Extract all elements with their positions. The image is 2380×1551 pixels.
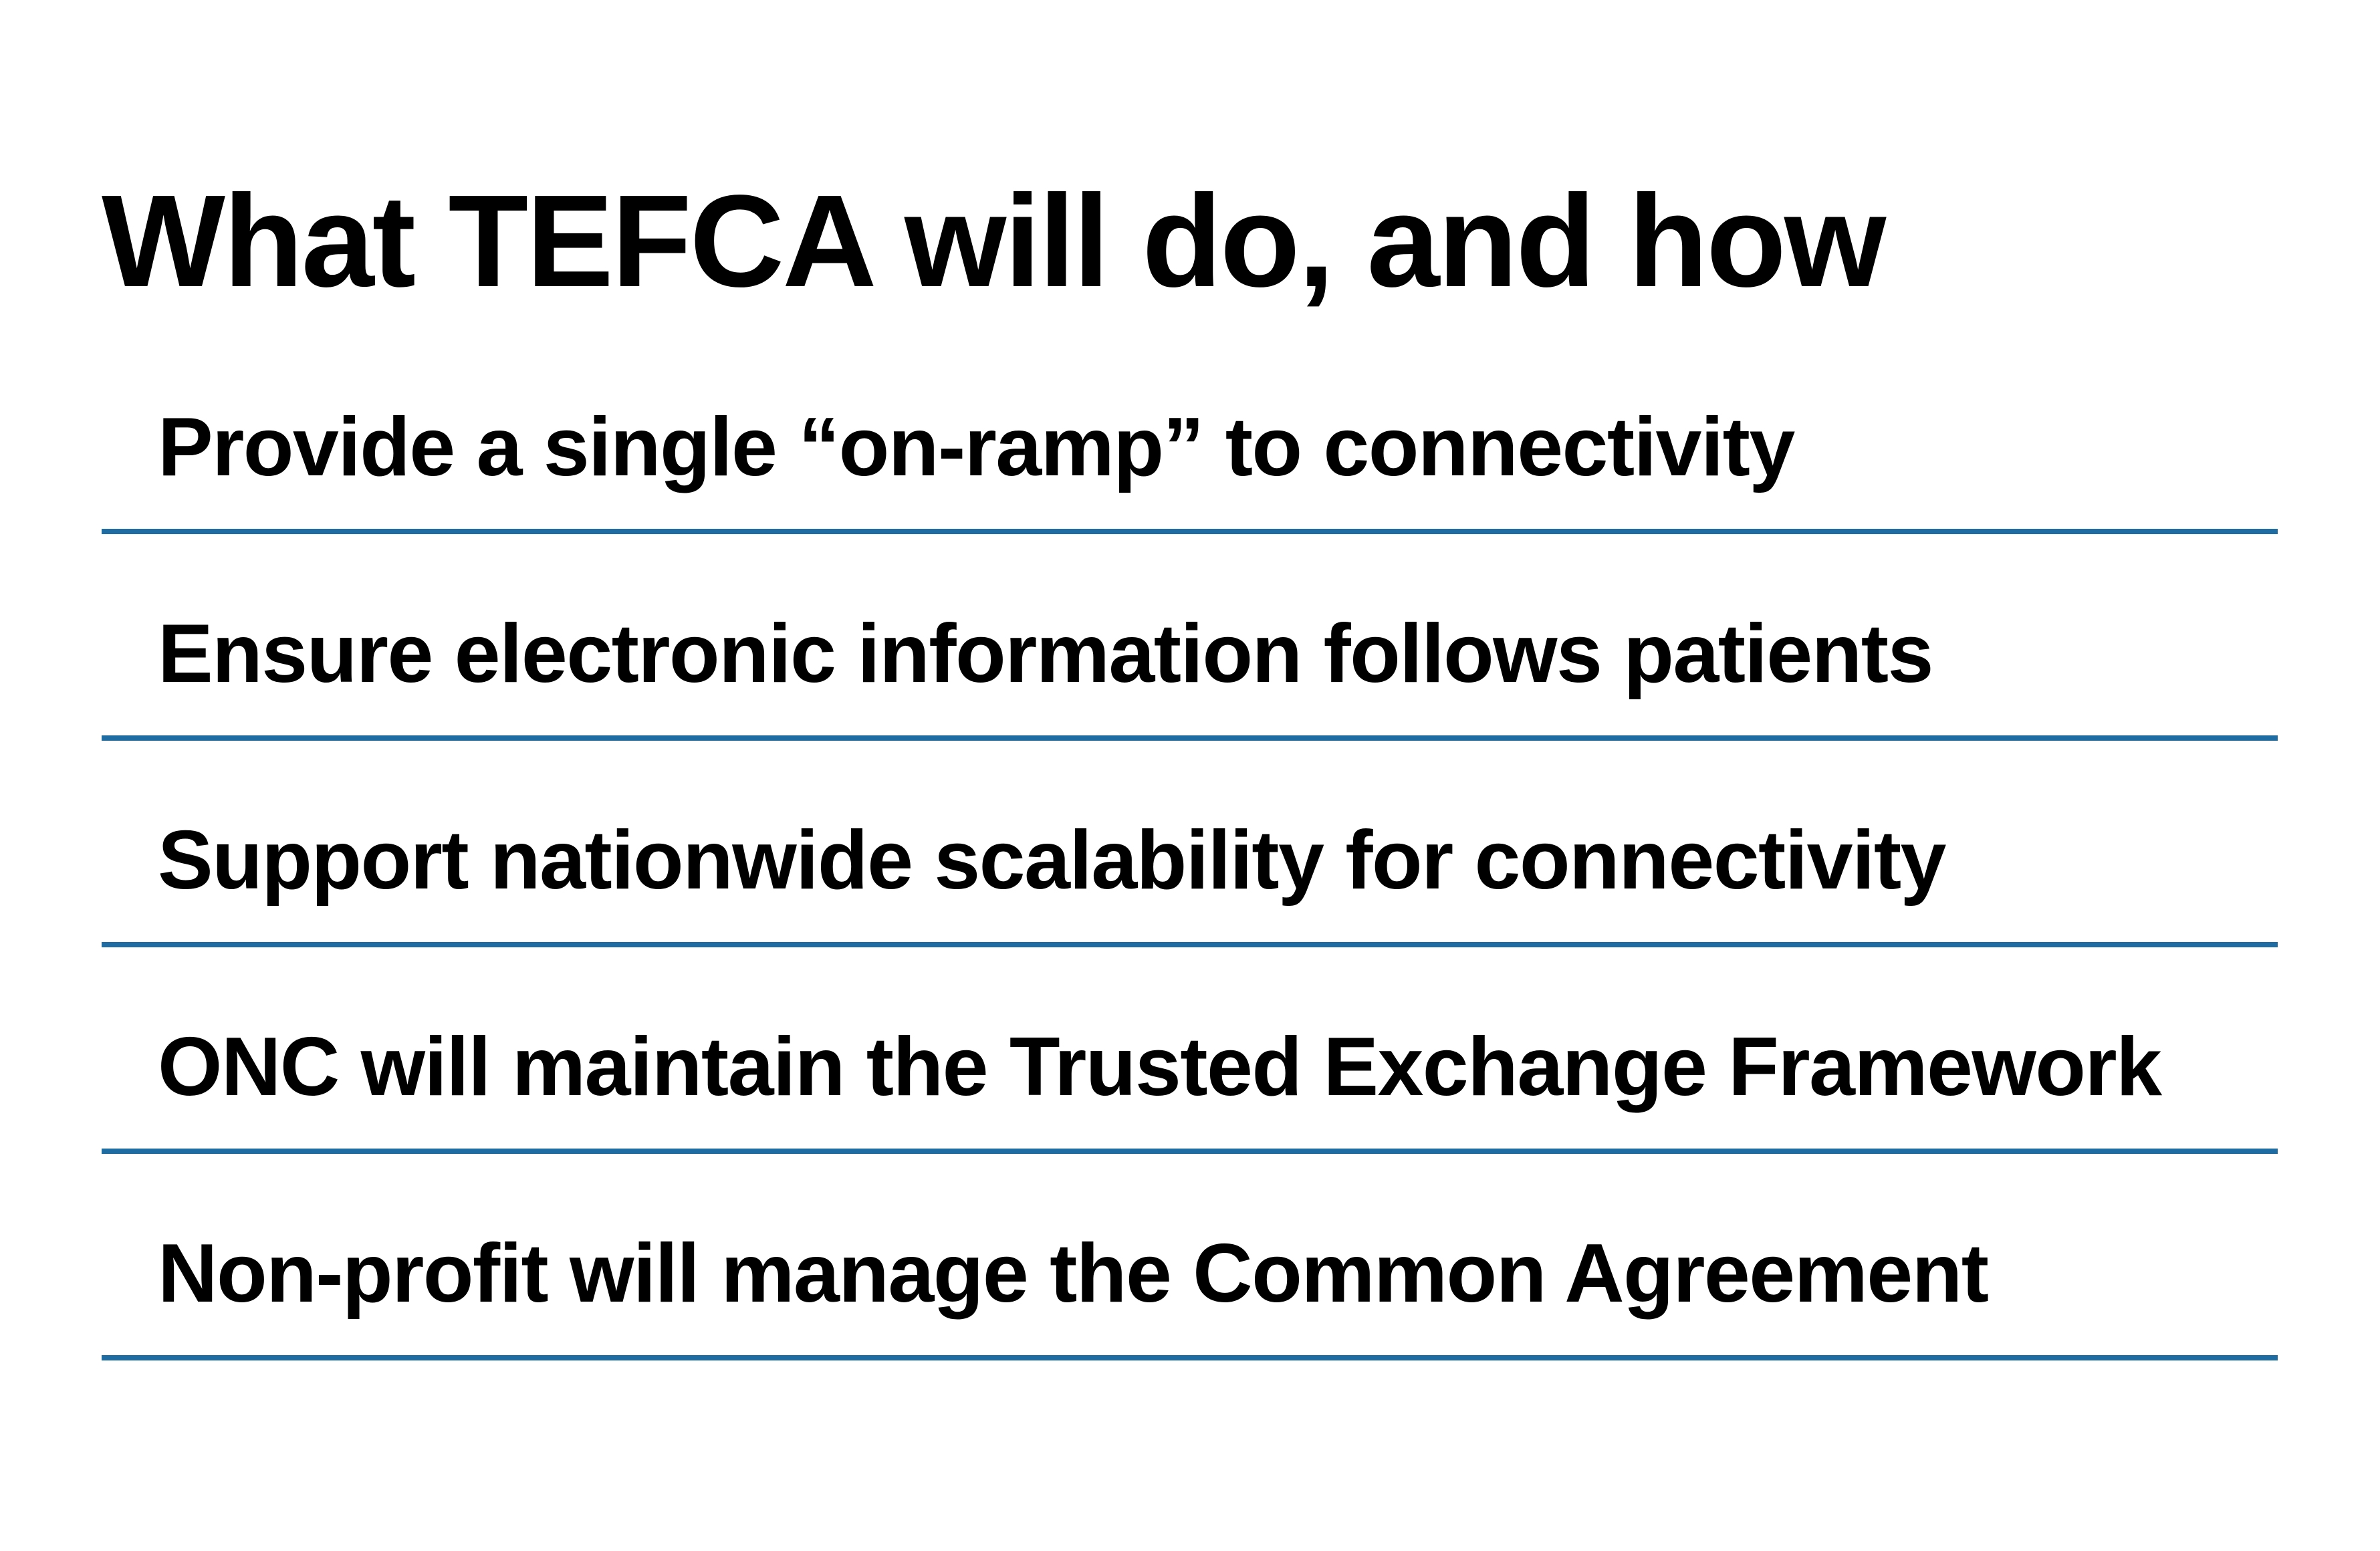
bullet-divider bbox=[102, 1355, 2278, 1360]
list-item: Support nationwide scalability for conne… bbox=[102, 741, 2278, 947]
bullet-item-label: Ensure electronic information follows pa… bbox=[158, 610, 1933, 699]
list-item: ONC will maintain the Trusted Exchange F… bbox=[102, 947, 2278, 1154]
bullet-divider bbox=[102, 735, 2278, 741]
bullet-divider bbox=[102, 1149, 2278, 1154]
bullet-item-label: Provide a single “on-ramp” to connectivi… bbox=[158, 403, 1794, 493]
bullet-item-label: Support nationwide scalability for conne… bbox=[158, 816, 1945, 906]
bullet-item-label: Non-profit will manage the Common Agreem… bbox=[158, 1229, 1988, 1319]
list-item: Provide a single “on-ramp” to connectivi… bbox=[102, 328, 2278, 534]
list-item: Non-profit will manage the Common Agreem… bbox=[102, 1154, 2278, 1360]
bullet-list: Provide a single “on-ramp” to connectivi… bbox=[102, 328, 2278, 1360]
bullet-divider bbox=[102, 942, 2278, 947]
page-title: What TEFCA will do, and how bbox=[102, 173, 2208, 310]
bullet-divider bbox=[102, 529, 2278, 534]
presentation-slide: What TEFCA will do, and how Provide a si… bbox=[0, 0, 2380, 1551]
bullet-item-label: ONC will maintain the Trusted Exchange F… bbox=[158, 1023, 2161, 1112]
list-item: Ensure electronic information follows pa… bbox=[102, 534, 2278, 741]
